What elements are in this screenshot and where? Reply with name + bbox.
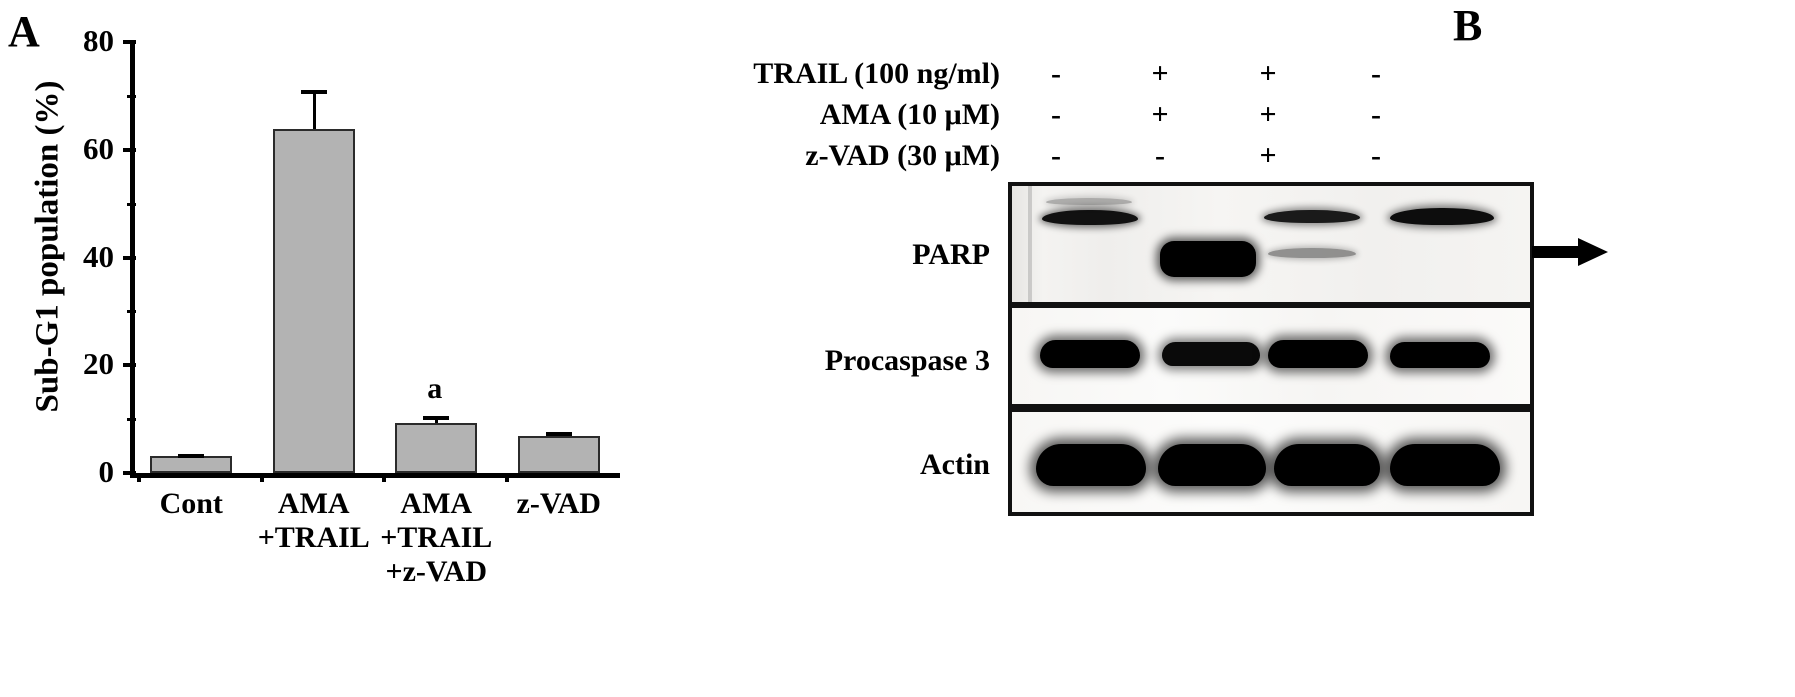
x-axis-label-1: Cont bbox=[130, 487, 253, 521]
band-actin-lane2 bbox=[1158, 444, 1266, 486]
treatment-symbol-row1-lane3: + bbox=[1248, 57, 1288, 91]
band-procaspase3-lane4 bbox=[1390, 342, 1490, 368]
treatment-label-1: TRAIL (100 ng/ml) bbox=[540, 57, 1000, 91]
blot-label-procaspase3: Procaspase 3 bbox=[740, 344, 990, 378]
blot-panel-actin bbox=[1008, 408, 1534, 516]
band-parp-full-lane1 bbox=[1042, 210, 1138, 225]
error-bar-stem-2 bbox=[313, 90, 316, 129]
error-bar-cap-1 bbox=[178, 454, 204, 458]
treatment-symbol-row1-lane2: + bbox=[1140, 57, 1180, 91]
y-tick-label: 20 bbox=[58, 348, 114, 379]
y-tick-major bbox=[123, 471, 136, 475]
blot-panel-parp bbox=[1008, 182, 1534, 306]
treatment-symbol-row3-lane3: + bbox=[1248, 139, 1288, 173]
band-procaspase3-lane1 bbox=[1040, 340, 1140, 368]
error-bar-cap-2 bbox=[301, 90, 327, 94]
y-tick-major bbox=[123, 148, 136, 152]
band-parp-cleaved-lane2 bbox=[1160, 241, 1256, 277]
x-tick bbox=[260, 473, 264, 482]
treatment-row-1: TRAIL (100 ng/ml)-++- bbox=[720, 57, 1720, 95]
x-tick bbox=[505, 473, 509, 482]
error-bar-cap-4 bbox=[546, 432, 572, 436]
x-tick bbox=[382, 473, 386, 482]
bar-3 bbox=[395, 423, 477, 473]
treatment-symbol-row2-lane1: - bbox=[1036, 98, 1076, 132]
treatment-symbol-row2-lane2: + bbox=[1140, 98, 1180, 132]
band-parp-cleaved-lane3 bbox=[1268, 248, 1356, 258]
treatment-row-2: AMA (10 μM)-++- bbox=[720, 98, 1720, 136]
y-tick-minor bbox=[127, 203, 136, 206]
x-axis-label-4: z-VAD bbox=[498, 487, 621, 521]
x-tick bbox=[137, 473, 141, 482]
bar-2 bbox=[273, 129, 355, 473]
error-bar-cap-3 bbox=[423, 416, 449, 420]
treatment-label-3: z-VAD (30 μM) bbox=[540, 139, 1000, 173]
band-actin-lane1 bbox=[1036, 444, 1146, 486]
treatment-symbol-row1-lane1: - bbox=[1036, 57, 1076, 91]
treatment-symbol-row3-lane4: - bbox=[1356, 139, 1396, 173]
y-tick-label: 40 bbox=[58, 241, 114, 272]
treatment-symbol-row3-lane2: - bbox=[1140, 139, 1180, 173]
bar-4 bbox=[518, 436, 600, 473]
panel-b-western-blot: B TRAIL (100 ng/ml)-++-AMA (10 μM)-++-z-… bbox=[720, 0, 1795, 697]
y-tick-minor bbox=[127, 310, 136, 313]
bar-1 bbox=[150, 456, 232, 473]
y-tick-minor bbox=[127, 95, 136, 98]
panel-b-letter: B bbox=[1453, 0, 1482, 51]
y-tick-minor bbox=[127, 418, 136, 421]
x-axis-label-2: AMA +TRAIL bbox=[253, 487, 376, 555]
y-tick-major bbox=[123, 256, 136, 260]
blot-streak bbox=[1028, 186, 1032, 302]
treatment-symbol-row1-lane4: - bbox=[1356, 57, 1396, 91]
band-actin-lane3 bbox=[1274, 444, 1380, 486]
y-tick-major bbox=[123, 40, 136, 44]
treatment-symbol-row2-lane4: - bbox=[1356, 98, 1396, 132]
y-tick-major bbox=[123, 363, 136, 367]
band-parp-full-lane3 bbox=[1264, 210, 1360, 223]
treatment-label-2: AMA (10 μM) bbox=[540, 98, 1000, 132]
y-tick-label: 0 bbox=[58, 456, 114, 487]
treatment-symbol-row2-lane3: + bbox=[1248, 98, 1288, 132]
band-actin-lane4 bbox=[1390, 444, 1500, 486]
treatment-row-3: z-VAD (30 μM)--+- bbox=[720, 139, 1720, 177]
band-parp-full-lane1-faint bbox=[1046, 198, 1132, 205]
band-procaspase3-lane3 bbox=[1268, 340, 1368, 368]
significance-annotation: a bbox=[427, 372, 442, 406]
band-parp-full-lane4 bbox=[1390, 208, 1494, 225]
blot-label-parp: PARP bbox=[820, 238, 990, 272]
y-tick-label: 60 bbox=[58, 133, 114, 164]
x-axis-label-3: AMA +TRAIL +z-VAD bbox=[375, 487, 498, 589]
blot-panel-procaspase3 bbox=[1008, 304, 1534, 408]
treatment-symbol-row3-lane1: - bbox=[1036, 139, 1076, 173]
cleaved-parp-arrow-icon bbox=[1532, 238, 1608, 266]
band-procaspase3-lane2 bbox=[1162, 342, 1260, 366]
x-axis-line bbox=[130, 473, 620, 478]
y-tick-label: 80 bbox=[58, 25, 114, 56]
blot-label-actin: Actin bbox=[820, 448, 990, 482]
